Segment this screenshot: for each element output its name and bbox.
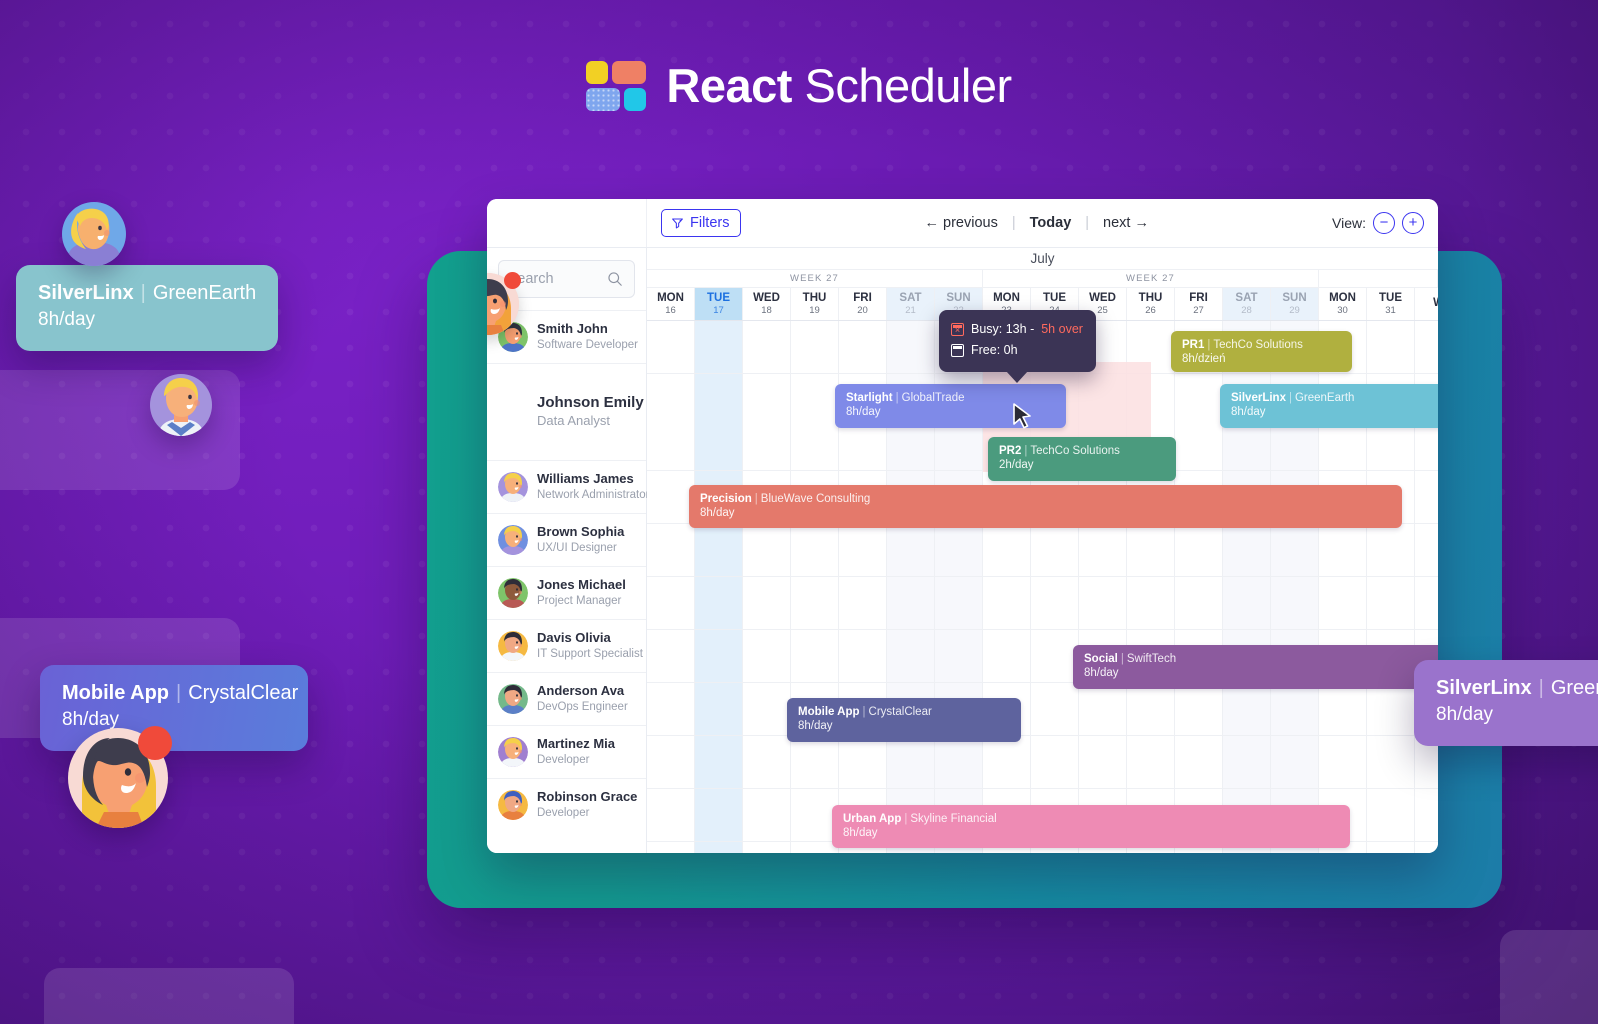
event-project: Precision	[700, 493, 752, 505]
resource-info: Smith JohnSoftware Developer	[537, 321, 638, 352]
week-label-3	[1319, 270, 1438, 287]
floating-event-card-silverlinx: SilverLinx|GreenEarth 8h/day	[16, 265, 278, 351]
decorative-rect-right	[1500, 930, 1598, 1024]
day-weekday: MON	[657, 292, 684, 304]
day-weekday: SAT	[1235, 292, 1257, 304]
toolbar-controls: Filters ← previous | Today | next → View…	[647, 199, 1438, 247]
day-weekday: SUN	[946, 292, 970, 304]
day-header-cell[interactable]: FRI27	[1175, 288, 1223, 320]
floating-card-project-2: Mobile App	[62, 682, 169, 704]
day-weekday: SAT	[899, 292, 921, 304]
resource-name: Martinez Mia	[537, 736, 615, 752]
event-client: GlobalTrade	[902, 392, 965, 404]
filters-button[interactable]: Filters	[661, 209, 741, 237]
day-header-cell[interactable]: SUN29	[1271, 288, 1319, 320]
event-hours: 8h/day	[700, 506, 1391, 522]
event-title: Mobile App|CrystalClear	[798, 705, 1010, 719]
row-separator	[647, 735, 1438, 736]
previous-button[interactable]: ← previous	[911, 213, 1012, 233]
event-hours: 8h/day	[843, 826, 1339, 842]
resource-row[interactable]: Jones MichaelProject Manager	[487, 566, 646, 619]
event-separator: |	[1207, 339, 1210, 351]
resource-name: Smith John	[537, 321, 638, 337]
event-hours: 8h/dzień	[1182, 352, 1341, 368]
day-header-cell[interactable]: W	[1415, 288, 1438, 320]
event-project: PR1	[1182, 339, 1204, 351]
resource-info: Jones MichaelProject Manager	[537, 577, 626, 608]
day-header-cell[interactable]: MON30	[1319, 288, 1367, 320]
event-hours: 8h/day	[798, 719, 1010, 735]
resource-name: Williams James	[537, 471, 649, 487]
floating-card-title-1: SilverLinx|GreenEarth	[38, 280, 256, 306]
day-number: 30	[1337, 306, 1348, 316]
resource-name: Johnson Emily	[537, 394, 644, 413]
avatar-williams-james	[498, 472, 528, 502]
avatar-brown-sophia	[498, 525, 528, 555]
floating-card-project-1: SilverLinx	[38, 282, 134, 304]
calendar-event[interactable]: Precision|BlueWave Consulting8h/day	[689, 485, 1402, 528]
event-separator: |	[863, 706, 866, 718]
next-button[interactable]: next →	[1089, 213, 1163, 233]
scheduler-toolbar: Filters ← previous | Today | next → View…	[487, 199, 1438, 248]
calendar-grid: PR1|TechCo Solutions8h/dzieńStarlight|Gl…	[647, 321, 1438, 853]
event-client: CrystalClear	[869, 706, 932, 718]
resource-role: Developer	[537, 806, 637, 821]
resource-row[interactable]: Brown SophiaUX/UI Designer	[487, 513, 646, 566]
tooltip-busy-over: 5h over	[1041, 319, 1083, 340]
avatar-jones-michael	[498, 578, 528, 608]
floating-card-hours-3: 8h/day	[1436, 701, 1598, 729]
zoom-in-button[interactable]: +	[1402, 212, 1424, 234]
floating-card-client-3: Green	[1551, 677, 1598, 699]
resource-info: Anderson AvaDevOps Engineer	[537, 683, 628, 714]
funnel-icon	[671, 217, 684, 230]
calendar-event[interactable]: SilverLinx|GreenEarth8h/day	[1220, 384, 1438, 428]
scheduler-panel: Filters ← previous | Today | next → View…	[487, 199, 1438, 853]
day-header-cell[interactable]: THU26	[1127, 288, 1175, 320]
avatar-robinson-grace	[498, 790, 528, 820]
busy-tooltip: Busy: 13h - 5h over Free: 0h	[939, 310, 1096, 372]
avatar-floating-3	[68, 728, 168, 828]
event-project: Social	[1084, 653, 1118, 665]
floating-card-client-1: GreenEarth	[153, 282, 256, 304]
zoom-out-button[interactable]: −	[1373, 212, 1395, 234]
resource-row[interactable]: Robinson GraceDeveloper	[487, 778, 646, 831]
day-number: 21	[905, 306, 916, 316]
decorative-rect-bottom	[44, 968, 294, 1024]
resource-info: Davis OliviaIT Support Specialist	[537, 630, 643, 661]
date-navigation: ← previous | Today | next →	[741, 213, 1332, 233]
calendar-event[interactable]: Urban App|Skyline Financial8h/day	[832, 805, 1350, 848]
event-title: PR1|TechCo Solutions	[1182, 338, 1341, 352]
day-number: 28	[1241, 306, 1252, 316]
resource-role: UX/UI Designer	[537, 541, 624, 556]
day-header-cell[interactable]: FRI20	[839, 288, 887, 320]
title-light: Scheduler	[804, 59, 1011, 112]
resource-info: Johnson EmilyData Analyst	[537, 394, 644, 430]
floating-card-client-2: CrystalClear	[188, 682, 298, 704]
event-title: SilverLinx|GreenEarth	[1231, 391, 1438, 405]
event-project: PR2	[999, 445, 1021, 457]
tooltip-busy-label: Busy: 13h -	[971, 319, 1034, 340]
day-number: 26	[1145, 306, 1156, 316]
resource-name: Davis Olivia	[537, 630, 643, 646]
event-separator: |	[904, 813, 907, 825]
day-weekday: WED	[1089, 292, 1116, 304]
calendar-event[interactable]: PR1|TechCo Solutions8h/dzień	[1171, 331, 1352, 372]
event-separator: |	[1121, 653, 1124, 665]
event-client: Skyline Financial	[910, 813, 996, 825]
resource-row[interactable]: Anderson AvaDevOps Engineer	[487, 672, 646, 725]
day-weekday: WED	[753, 292, 780, 304]
floating-card-hours-1: 8h/day	[38, 306, 256, 334]
title-bold: React	[666, 59, 792, 112]
row-separator	[647, 576, 1438, 577]
resource-info: Brown SophiaUX/UI Designer	[537, 524, 624, 555]
resource-info: Williams JamesNetwork Administrator	[537, 471, 649, 502]
view-zoom-controls: View: − +	[1332, 212, 1424, 234]
day-header-cell[interactable]: SAT21	[887, 288, 935, 320]
resource-row[interactable]: Williams JamesNetwork Administrator	[487, 460, 646, 513]
avatar-davis-olivia	[498, 631, 528, 661]
resource-name: Robinson Grace	[537, 789, 637, 805]
event-project: Mobile App	[798, 706, 860, 718]
resource-row[interactable]: Davis OliviaIT Support Specialist	[487, 619, 646, 672]
calendar-event[interactable]: Mobile App|CrystalClear8h/day	[787, 698, 1021, 742]
day-header-cell[interactable]: WED18	[743, 288, 791, 320]
event-hours: 8h/day	[1231, 405, 1438, 421]
day-number: 29	[1289, 306, 1300, 316]
day-number: 27	[1193, 306, 1204, 316]
resource-column: search Smith JohnSoftware DeveloperJohns…	[487, 248, 647, 853]
page-title: React Scheduler	[666, 58, 1011, 113]
event-project: SilverLinx	[1231, 392, 1286, 404]
day-weekday: FRI	[1189, 292, 1208, 304]
event-hours: 8h/day	[1084, 666, 1438, 682]
view-label: View:	[1332, 215, 1366, 231]
floating-card-project-3: SilverLinx	[1436, 677, 1532, 699]
event-hours: 2h/day	[999, 458, 1165, 474]
day-weekday: FRI	[853, 292, 872, 304]
avatar-anderson-ava	[498, 684, 528, 714]
day-weekday: W	[1433, 297, 1438, 309]
day-header-cell[interactable]: THU19	[791, 288, 839, 320]
resource-role: IT Support Specialist	[537, 647, 643, 662]
resource-role: Network Administrator	[537, 488, 649, 503]
day-number: 16	[665, 306, 676, 316]
calendar-event[interactable]: PR2|TechCo Solutions2h/day	[988, 437, 1176, 481]
toolbar-left-spacer	[487, 199, 647, 247]
resource-row[interactable]: Johnson EmilyData Analyst	[487, 363, 646, 460]
day-weekday: MON	[993, 292, 1020, 304]
day-number: 19	[809, 306, 820, 316]
event-separator: |	[1024, 445, 1027, 457]
floating-card-title-2: Mobile App|CrystalClear	[62, 680, 286, 706]
resource-name: Anderson Ava	[537, 683, 628, 699]
notification-badge-floating	[138, 726, 172, 760]
day-number: 20	[857, 306, 868, 316]
day-weekday: THU	[1139, 292, 1163, 304]
day-header-cell[interactable]: MON16	[647, 288, 695, 320]
resource-row[interactable]: Martinez MiaDeveloper	[487, 725, 646, 778]
event-project: Urban App	[843, 813, 901, 825]
month-label: July	[647, 248, 1438, 270]
resource-list: Smith JohnSoftware DeveloperJohnson Emil…	[487, 310, 646, 831]
resource-role: Developer	[537, 753, 615, 768]
week-row: WEEK 27 WEEK 27	[647, 270, 1438, 288]
day-header-cell[interactable]: TUE31	[1367, 288, 1415, 320]
mouse-cursor	[1013, 403, 1033, 430]
event-separator: |	[755, 493, 758, 505]
event-client: SwiftTech	[1127, 653, 1176, 665]
row-separator	[647, 788, 1438, 789]
avatar-floating-1	[62, 202, 126, 266]
event-client: TechCo Solutions	[1030, 445, 1120, 457]
search-icon	[607, 271, 623, 287]
tooltip-busy-line: Busy: 13h - 5h over	[951, 319, 1083, 340]
day-header-cell[interactable]: TUE17	[695, 288, 743, 320]
event-client: TechCo Solutions	[1213, 339, 1303, 351]
resource-role: Data Analyst	[537, 413, 644, 430]
week-label-2: WEEK 27	[983, 270, 1319, 287]
day-weekday: TUE	[1043, 292, 1066, 304]
day-weekday: THU	[803, 292, 827, 304]
resource-role: Project Manager	[537, 594, 626, 609]
calendar-event[interactable]: Social|SwiftTech8h/day	[1073, 645, 1438, 689]
today-button[interactable]: Today	[1016, 213, 1086, 233]
day-weekday: TUE	[707, 292, 730, 304]
resource-name: Jones Michael	[537, 577, 626, 593]
avatar-floating-2	[150, 374, 212, 436]
event-client: GreenEarth	[1295, 392, 1354, 404]
day-number: 25	[1097, 306, 1108, 316]
day-number: 17	[713, 306, 724, 316]
tooltip-free-line: Free: 0h	[951, 340, 1083, 361]
day-header-cell[interactable]: SAT28	[1223, 288, 1271, 320]
resource-name: Brown Sophia	[537, 524, 624, 540]
event-separator: |	[896, 392, 899, 404]
event-separator: |	[1289, 392, 1292, 404]
floating-event-card-silverlinx-right: SilverLinx|Green 8h/day	[1414, 660, 1598, 746]
filters-label: Filters	[690, 215, 729, 231]
row-separator	[647, 629, 1438, 630]
tooltip-free-label: Free: 0h	[971, 340, 1018, 361]
resource-role: Software Developer	[537, 338, 638, 353]
event-title: Precision|BlueWave Consulting	[700, 492, 1391, 506]
resource-info: Martinez MiaDeveloper	[537, 736, 615, 767]
event-title: PR2|TechCo Solutions	[999, 444, 1165, 458]
day-weekday: TUE	[1379, 292, 1402, 304]
resource-role: DevOps Engineer	[537, 700, 628, 715]
app-header: React Scheduler	[0, 58, 1598, 113]
resource-info: Robinson GraceDeveloper	[537, 789, 637, 820]
avatar-martinez-mia	[498, 737, 528, 767]
event-title: Social|SwiftTech	[1084, 652, 1438, 666]
calendar-free-icon	[951, 344, 964, 357]
day-weekday: SUN	[1282, 292, 1306, 304]
floating-card-title-3: SilverLinx|Green	[1436, 675, 1598, 701]
notification-badge	[504, 272, 521, 289]
day-weekday: MON	[1329, 292, 1356, 304]
week-label-1: WEEK 27	[647, 270, 983, 287]
calendar-busy-icon	[951, 323, 964, 336]
avatar-johnson-emily-large	[487, 273, 519, 335]
day-number: 18	[761, 306, 772, 316]
event-client: BlueWave Consulting	[761, 493, 871, 505]
react-scheduler-logo-icon	[586, 61, 644, 111]
event-title: Urban App|Skyline Financial	[843, 812, 1339, 826]
event-project: Starlight	[846, 392, 893, 404]
day-number: 31	[1385, 306, 1396, 316]
